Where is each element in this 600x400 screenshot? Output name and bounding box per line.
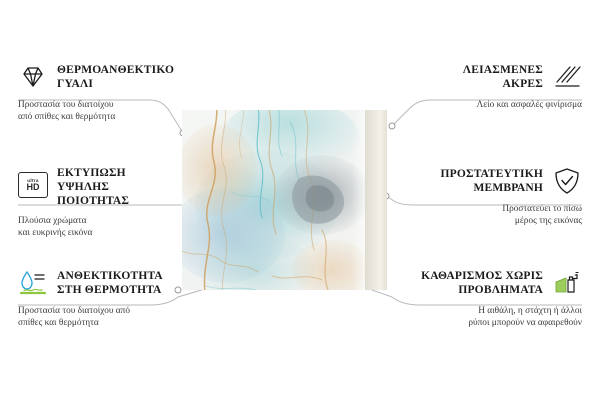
feature-thermal-glass: ΘΕΡΜΟΑΝΘΕΚΤΙΚΟΓΥΑΛΙ Προστασία του διατοί… <box>18 62 178 124</box>
feature-title-line2: ΜΕΜΒΡΑΝΗ <box>473 182 543 194</box>
ultra-hd-icon: ultra HD <box>18 172 48 202</box>
feature-desc-line1: Προστασία του διατοίχου από <box>18 306 130 316</box>
feature-desc: Η αιθάλη, η στάχτη ή άλλοι ρύποι μπορούν… <box>402 305 582 330</box>
feature-title-line1: ΕΚΤΥΠΩΣΗ ΥΨΗΛΗΣ <box>57 167 126 193</box>
feature-easy-cleaning: ΚΑΘΑΡΙΣΜΟΣ ΧΩΡΙΣΠΡΟΒΛΗΜΑΤΑ Η αιθάλη, η σ… <box>402 268 582 330</box>
feature-title-line2: ΓΥΑΛΙ <box>57 78 93 90</box>
feature-title-line1: ΚΑΘΑΡΙΣΜΟΣ ΧΩΡΙΣ <box>421 270 543 282</box>
shield-icon <box>552 166 582 196</box>
feature-desc: Λείο και ασφαλές φινίρισμα <box>412 99 582 111</box>
feature-title-line1: ΘΕΡΜΟΑΝΘΕΚΤΙΚΟ <box>57 64 174 76</box>
feature-desc-line1: Προστατεύει το πίσω <box>502 204 582 214</box>
feature-desc-line2: μέρος της εικόνας <box>515 216 582 226</box>
feature-protective-membrane: ΠΡΟΣΤΑΤΕΥΤΙΚΗΜΕΜΒΡΑΝΗ Προστατεύει το πίσ… <box>412 166 582 228</box>
feature-desc-line2: σπίθες και θερμότητα <box>18 318 99 328</box>
feature-title-line2: ΠΡΟΒΛΗΜΑΤΑ <box>458 284 543 296</box>
product-image <box>182 110 387 290</box>
polished-edges-icon <box>552 62 582 92</box>
feature-title-line1: ΛΕΙΑΣΜΕΝΕΣ <box>463 64 543 76</box>
marble-artwork <box>182 110 365 290</box>
feature-desc-line2: ρύποι μπορούν να αφαιρεθούν <box>468 318 582 328</box>
feature-high-quality-print: ultra HD ΕΚΤΥΠΩΣΗ ΥΨΗΛΗΣΠΟΙΟΤΗΤΑΣ Πλούσι… <box>18 166 178 240</box>
spray-cloth-icon <box>552 268 582 298</box>
glass-panel-front <box>182 110 365 290</box>
feature-desc-line1: Λείο και ασφαλές φινίρισμα <box>476 100 582 110</box>
feature-desc: Πλούσια χρώματα και ευκρινής εικόνα <box>18 215 178 240</box>
feature-desc-line1: Προστασία του διατοίχου <box>18 100 113 110</box>
feature-title-line2: ΣΤΗ ΘΕΡΜΟΤΗΤΑ <box>57 284 162 296</box>
feature-desc-line1: Η αιθάλη, η στάχτη ή άλλοι <box>478 306 582 316</box>
feature-desc-line2: και ευκρινής εικόνα <box>18 228 92 238</box>
feature-desc: Προστασία του διατοίχου από σπίθες και θ… <box>18 305 180 330</box>
feature-desc-line2: από σπίθες και θερμότητα <box>18 112 115 122</box>
glass-reflection <box>352 110 365 290</box>
diamond-icon <box>18 62 48 92</box>
feature-desc-line1: Πλούσια χρώματα <box>18 216 87 226</box>
feature-title-line2: ΠΟΙΟΤΗΤΑΣ <box>57 195 129 207</box>
feature-heat-resistance: ΑΝΘΕΚΤΙΚΟΤΗΤΑΣΤΗ ΘΕΡΜΟΤΗΤΑ Προστασία του… <box>18 268 180 330</box>
feature-desc: Προστατεύει το πίσω μέρος της εικόνας <box>412 203 582 228</box>
infographic-stage: ΘΕΡΜΟΑΝΘΕΚΤΙΚΟΓΥΑΛΙ Προστασία του διατοί… <box>0 0 600 400</box>
water-heat-icon <box>18 268 48 298</box>
panel-edge <box>365 110 387 290</box>
feature-title-line2: ΑΚΡΕΣ <box>503 78 543 90</box>
feature-title-line1: ΑΝΘΕΚΤΙΚΟΤΗΤΑ <box>57 270 163 282</box>
feature-title-line1: ΠΡΟΣΤΑΤΕΥΤΙΚΗ <box>441 168 543 180</box>
feature-polished-edges: ΛΕΙΑΣΜΕΝΕΣΑΚΡΕΣ Λείο και ασφαλές φινίρισ… <box>412 62 582 111</box>
feature-desc: Προστασία του διατοίχου από σπίθες και θ… <box>18 99 178 124</box>
